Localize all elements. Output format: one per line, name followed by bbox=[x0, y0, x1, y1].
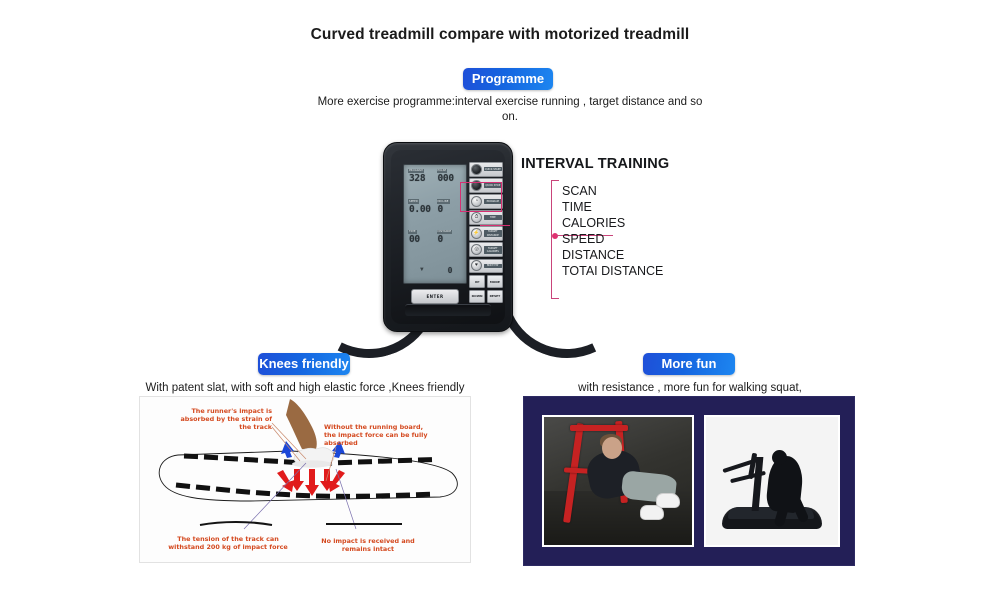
infographic-page: Curved treadmill compare with motorized … bbox=[0, 0, 1000, 600]
lcd-cell: SPEED 0.00 bbox=[407, 198, 435, 227]
metric-item-scan: SCAN bbox=[562, 183, 663, 199]
enter-button[interactable]: ENTER bbox=[411, 289, 459, 304]
distance-icon: ⚡ bbox=[471, 228, 482, 239]
knees-friendly-diagram: The runner's impact is absorbed by the s… bbox=[139, 396, 471, 563]
callout-highlight-box bbox=[460, 182, 502, 212]
diagram-note-bottom-right: No impact is received and remains intact bbox=[318, 537, 418, 553]
metric-item-total-distance: TOTAI DISTANCE bbox=[562, 263, 663, 279]
photo-user-on-curved-treadmill bbox=[542, 415, 694, 547]
key-label: TARGET DISTANCE bbox=[484, 230, 503, 238]
badge-more-fun: More fun bbox=[643, 353, 735, 375]
console-key-quick-start[interactable]: QUICK START bbox=[469, 162, 503, 177]
key-label: TARGET CALORIES bbox=[484, 246, 503, 254]
interval-training-heading: INTERVAL TRAINING bbox=[521, 156, 669, 172]
lcd-readout-grid: PROGRAM 328 PULSE 000 SPEED 0.00 INCLI bbox=[407, 168, 463, 280]
console-key-target-distance[interactable]: ⚡ TARGET DISTANCE bbox=[469, 226, 503, 241]
person-shoe-back bbox=[640, 505, 664, 520]
caption-programme: More exercise programme:interval exercis… bbox=[310, 95, 710, 125]
console-key-body-fat[interactable]: ♥ BODY FAT bbox=[469, 259, 503, 274]
lcd-cell: TIME 00 bbox=[407, 229, 435, 258]
lcd-cell-value: 328 bbox=[408, 173, 435, 184]
caption-more-fun: with resistance , more fun for walking s… bbox=[540, 381, 840, 396]
red-frame-crossbar-top bbox=[570, 425, 628, 431]
metric-list: SCAN TIME CALORIES SPEED DISTANCE TOTAI … bbox=[562, 183, 663, 279]
keypad-button-reset[interactable]: RESET bbox=[487, 290, 503, 303]
badge-knees-friendly: Knees friendly bbox=[258, 353, 350, 375]
metric-item-speed: SPEED bbox=[562, 231, 663, 247]
keypad-button-mode[interactable]: MODE bbox=[487, 275, 503, 288]
lcd-cell: PROGRAM 328 bbox=[407, 168, 435, 197]
lcd-bottom-row: ▼ 0 bbox=[407, 259, 463, 280]
page-title: Curved treadmill compare with motorized … bbox=[0, 26, 1000, 44]
keypad-button-down[interactable]: DOWN bbox=[469, 290, 485, 303]
console-tray-slot bbox=[405, 304, 491, 316]
lcd-cell: INCLINE 0 bbox=[436, 198, 464, 227]
runner-silhouette-head bbox=[772, 450, 787, 465]
heart-icon: ♥ bbox=[471, 260, 482, 271]
console-key-target-calories[interactable]: ◎ TARGET CALORIES bbox=[469, 242, 503, 257]
lcd-down-arrow-icon: ▼ bbox=[419, 267, 425, 273]
calories-icon: ◎ bbox=[471, 244, 482, 255]
diagram-note-top-left: The runner's impact is absorbed by the s… bbox=[180, 407, 272, 432]
metric-item-calories: CALORIES bbox=[562, 215, 663, 231]
lcd-cell-value: 0.00 bbox=[408, 204, 435, 215]
console-keypad: UP MODE DOWN RESET bbox=[469, 275, 503, 303]
console-key-time[interactable]: ⏱ TIME bbox=[469, 210, 503, 225]
lcd-cell: DISTANCE 0 bbox=[436, 229, 464, 258]
key-label: BODY FAT bbox=[484, 264, 503, 268]
callout-underline bbox=[480, 225, 510, 226]
diagram-note-bottom-left: The tension of the track can withstand 2… bbox=[168, 535, 288, 551]
dial-knob-icon bbox=[471, 164, 482, 175]
lcd-cell-value: 0 bbox=[437, 234, 464, 245]
person-head bbox=[602, 437, 622, 459]
lcd-bottom-value: 0 bbox=[447, 265, 453, 276]
metric-list-bracket bbox=[551, 180, 559, 299]
keypad-button-up[interactable]: UP bbox=[469, 275, 485, 288]
photo-curved-treadmill-product bbox=[704, 415, 840, 547]
metric-item-time: TIME bbox=[562, 199, 663, 215]
key-label: QUICK START bbox=[484, 167, 503, 171]
console-inner-face: PROGRAM 328 PULSE 000 SPEED 0.00 INCLI bbox=[391, 150, 505, 324]
key-label: TIME bbox=[484, 215, 503, 219]
badge-programme: Programme bbox=[463, 68, 553, 90]
lcd-cell-value: 00 bbox=[408, 234, 435, 245]
more-fun-photo-panel bbox=[523, 396, 855, 566]
console-body: PROGRAM 328 PULSE 000 SPEED 0.00 INCLI bbox=[383, 142, 513, 332]
metric-item-distance: DISTANCE bbox=[562, 247, 663, 263]
caption-knees-friendly: With patent slat, with soft and high ela… bbox=[140, 381, 470, 396]
lcd-cell: PULSE 000 bbox=[436, 168, 464, 197]
diagram-note-top-right: Without the running board, the impact fo… bbox=[324, 423, 434, 448]
stopwatch-icon: ⏱ bbox=[471, 212, 482, 223]
lcd-screen: PROGRAM 328 PULSE 000 SPEED 0.00 INCLI bbox=[403, 164, 467, 284]
